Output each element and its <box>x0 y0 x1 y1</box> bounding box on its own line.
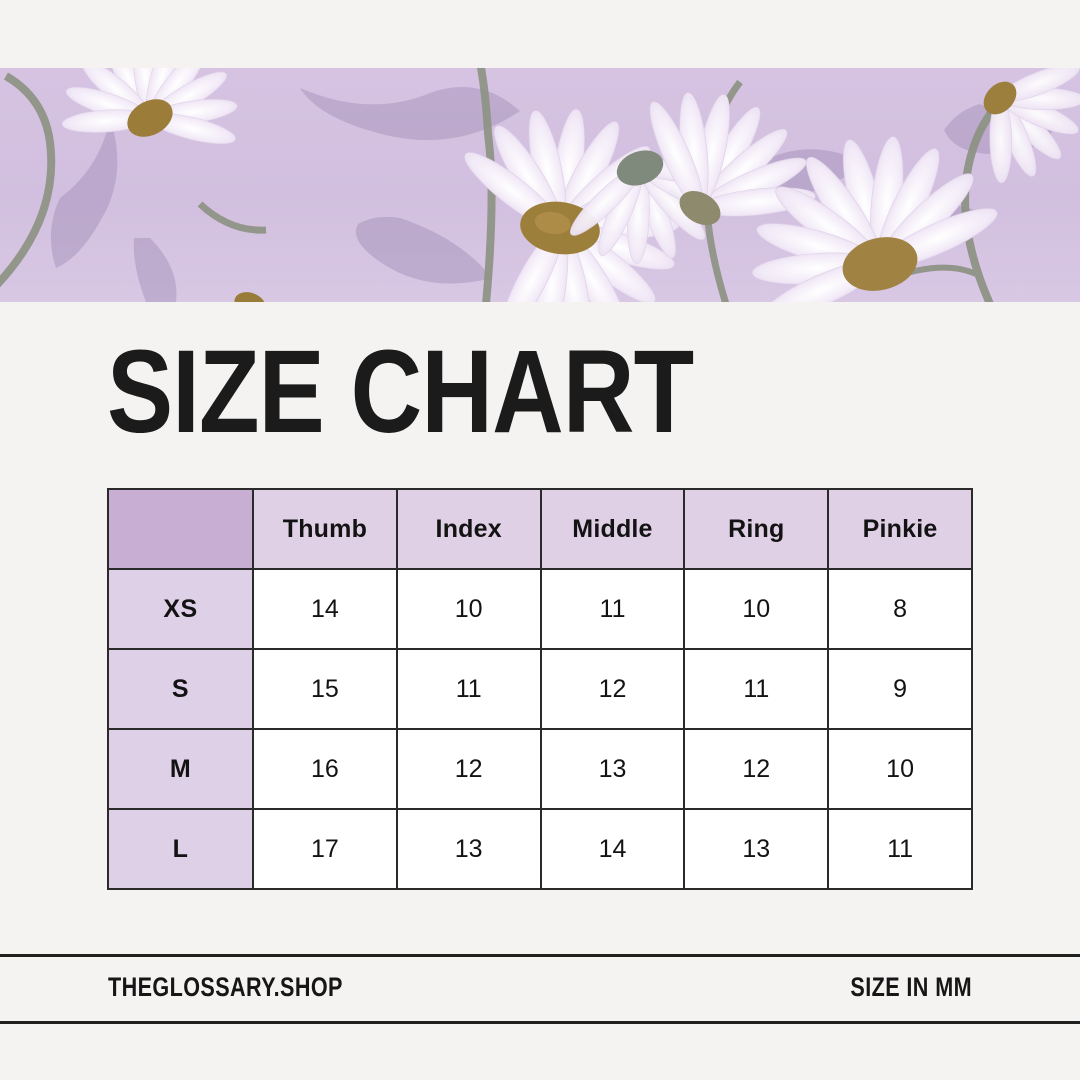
cell-xs-index: 10 <box>397 569 541 649</box>
cell-s-middle: 12 <box>541 649 685 729</box>
size-chart-table-wrap: Thumb Index Middle Ring Pinkie XS 14 10 … <box>107 488 971 890</box>
cell-xs-ring: 10 <box>684 569 828 649</box>
cell-m-index: 12 <box>397 729 541 809</box>
cell-xs-middle: 11 <box>541 569 685 649</box>
corner-cell <box>108 489 253 569</box>
footer-divider-bottom <box>0 1021 1080 1024</box>
table-row: L 17 13 14 13 11 <box>108 809 972 889</box>
table-body: XS 14 10 11 10 8 S 15 11 12 11 9 M <box>108 569 972 889</box>
cell-s-thumb: 15 <box>253 649 397 729</box>
cell-l-thumb: 17 <box>253 809 397 889</box>
cell-m-middle: 13 <box>541 729 685 809</box>
column-header-pinkie: Pinkie <box>828 489 972 569</box>
footer-unit-note: SIZE IN MM <box>850 972 972 1003</box>
row-header-s: S <box>108 649 253 729</box>
cell-s-ring: 11 <box>684 649 828 729</box>
cell-s-index: 11 <box>397 649 541 729</box>
row-header-xs: XS <box>108 569 253 649</box>
daisy-flowers-banner <box>0 68 1080 302</box>
cell-l-index: 13 <box>397 809 541 889</box>
table-header: Thumb Index Middle Ring Pinkie <box>108 489 972 569</box>
cell-xs-thumb: 14 <box>253 569 397 649</box>
row-header-m: M <box>108 729 253 809</box>
column-header-ring: Ring <box>684 489 828 569</box>
table-row: S 15 11 12 11 9 <box>108 649 972 729</box>
table-row: XS 14 10 11 10 8 <box>108 569 972 649</box>
cell-m-thumb: 16 <box>253 729 397 809</box>
page-title: SIZE CHART <box>107 333 693 451</box>
daisy-banner-illustration <box>0 68 1080 302</box>
size-chart-page: SIZE CHART Thumb Index Middle Ring Pinki… <box>0 0 1080 1080</box>
column-header-index: Index <box>397 489 541 569</box>
cell-s-pinkie: 9 <box>828 649 972 729</box>
cell-l-pinkie: 11 <box>828 809 972 889</box>
cell-m-pinkie: 10 <box>828 729 972 809</box>
cell-l-middle: 14 <box>541 809 685 889</box>
size-chart-table: Thumb Index Middle Ring Pinkie XS 14 10 … <box>107 488 973 890</box>
column-header-middle: Middle <box>541 489 685 569</box>
header-row: Thumb Index Middle Ring Pinkie <box>108 489 972 569</box>
footer-brand: THEGLOSSARY.SHOP <box>108 972 343 1003</box>
row-header-l: L <box>108 809 253 889</box>
cell-xs-pinkie: 8 <box>828 569 972 649</box>
column-header-thumb: Thumb <box>253 489 397 569</box>
cell-l-ring: 13 <box>684 809 828 889</box>
table-row: M 16 12 13 12 10 <box>108 729 972 809</box>
footer: THEGLOSSARY.SHOP SIZE IN MM <box>0 954 1080 1021</box>
cell-m-ring: 12 <box>684 729 828 809</box>
